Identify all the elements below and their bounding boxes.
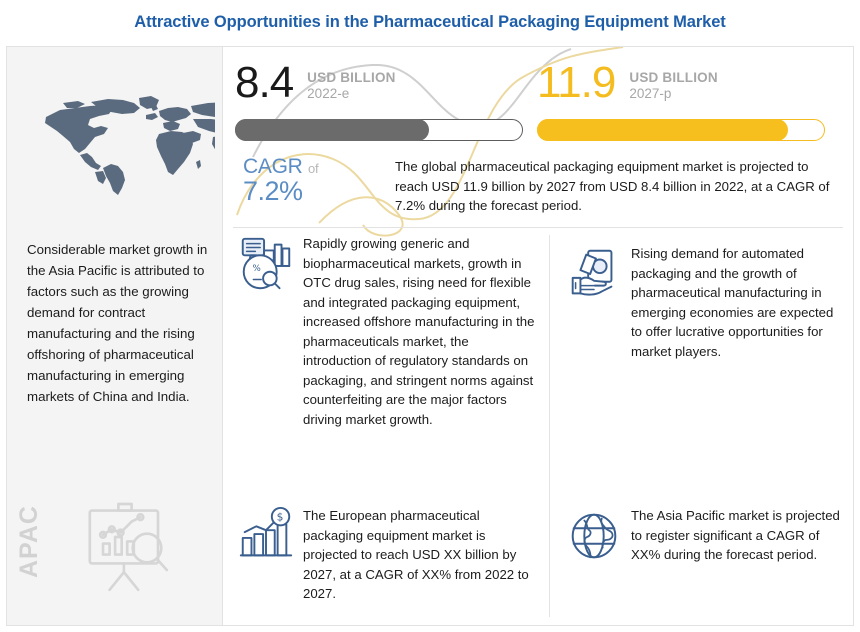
cagr-box: CAGR of 7.2% [243,155,373,205]
stat-value-2027: 11.9 [537,61,615,105]
stat-market-size-2027: 11.9 USD BILLION 2027-p [537,61,833,151]
left-panel-body-text: Considerable market growth in the Asia P… [27,239,209,407]
svg-text:%: % [252,264,260,274]
hand-money-icon [563,243,625,305]
insight-grid: % Rapidly growing generic and biopharmac… [223,229,854,625]
title-bar: Attractive Opportunities in the Pharmace… [0,0,860,44]
insight-text-europe-forecast: The European pharmaceutical packaging eq… [303,505,535,604]
svg-text:$: $ [277,511,284,524]
stat-unit-label-2027: USD BILLION [629,70,717,86]
cagr-row: CAGR of 7.2% The global pharmaceutical p… [235,155,845,217]
region-label-apac: APAC [15,505,44,578]
stat-year-2027: 2027-p [629,86,717,102]
growth-bar-chart-dollar-icon: $ [235,505,297,567]
progress-bar-fill-2027 [537,119,789,141]
stat-market-size-2022: 8.4 USD BILLION 2022-e [235,61,531,151]
chart-percent-search-icon: % [235,233,297,295]
progress-bar-2022 [235,119,523,141]
cagr-description: The global pharmaceutical packaging equi… [395,157,845,216]
left-panel: Considerable market growth in the Asia P… [7,47,223,625]
world-map-icon [11,53,219,233]
insight-market-drivers: % Rapidly growing generic and biopharmac… [235,233,535,429]
stat-unit-label-2022: USD BILLION [307,70,395,86]
page-title: Attractive Opportunities in the Pharmace… [134,13,725,32]
insight-europe-forecast: $ The European pharmaceutical packaging … [235,505,535,604]
globe-icon [563,505,625,567]
infographic-card: Considerable market growth in the Asia P… [6,46,854,626]
progress-bar-2027 [537,119,825,141]
insight-text-apac-forecast: The Asia Pacific market is projected to … [631,505,843,567]
horizontal-divider [233,227,843,228]
stat-value-2022: 8.4 [235,61,293,105]
cagr-value: 7.2% [243,177,373,205]
progress-bar-fill-2022 [235,119,429,141]
vertical-divider [549,235,550,617]
insight-text-market-drivers: Rapidly growing generic and biopharmaceu… [303,233,535,429]
insight-apac-forecast: The Asia Pacific market is projected to … [563,505,843,567]
stat-unit-2027: USD BILLION 2027-p [629,70,717,102]
insight-text-automation-opportunity: Rising demand for automated packaging an… [631,243,843,361]
infographic-page: Attractive Opportunities in the Pharmace… [0,0,860,632]
insight-automation-opportunity: Rising demand for automated packaging an… [563,243,843,361]
cagr-label: CAGR [243,155,302,178]
stat-year-2022: 2022-e [307,86,395,102]
right-side: 8.4 USD BILLION 2022-e 11.9 USD [223,47,854,625]
cagr-of-word: of [308,161,318,176]
stat-unit-2022: USD BILLION 2022-e [307,70,395,102]
apac-block: APAC [15,487,220,617]
presentation-chart-magnifier-icon [70,493,180,603]
